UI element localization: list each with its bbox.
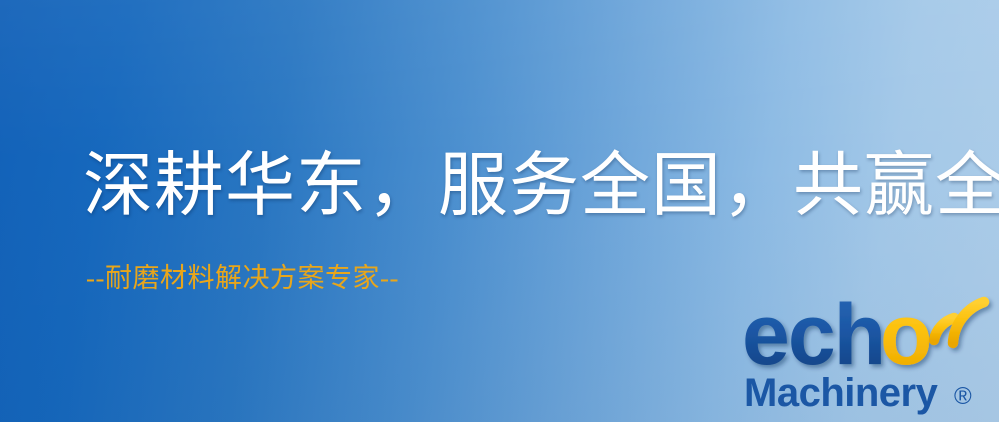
logo-wordmark-o: o — [880, 296, 933, 383]
logo-wordmark-ech: ech — [742, 296, 884, 383]
signal-waves-icon — [934, 302, 984, 343]
hero-banner: 深耕华东，服务全国，共赢全球 --耐磨材料解决方案专家-- — [0, 0, 999, 422]
logo-svg: ech o Machinery ® — [742, 296, 999, 422]
logo-tagline: Machinery — [744, 371, 939, 415]
banner-subtitle: --耐磨材料解决方案专家-- — [86, 265, 399, 292]
echo-machinery-logo[interactable]: ech o Machinery ® — [742, 296, 999, 422]
registered-trademark-icon: ® — [954, 383, 972, 410]
banner-headline: 深耕华东，服务全国，共赢全球 — [83, 152, 999, 222]
